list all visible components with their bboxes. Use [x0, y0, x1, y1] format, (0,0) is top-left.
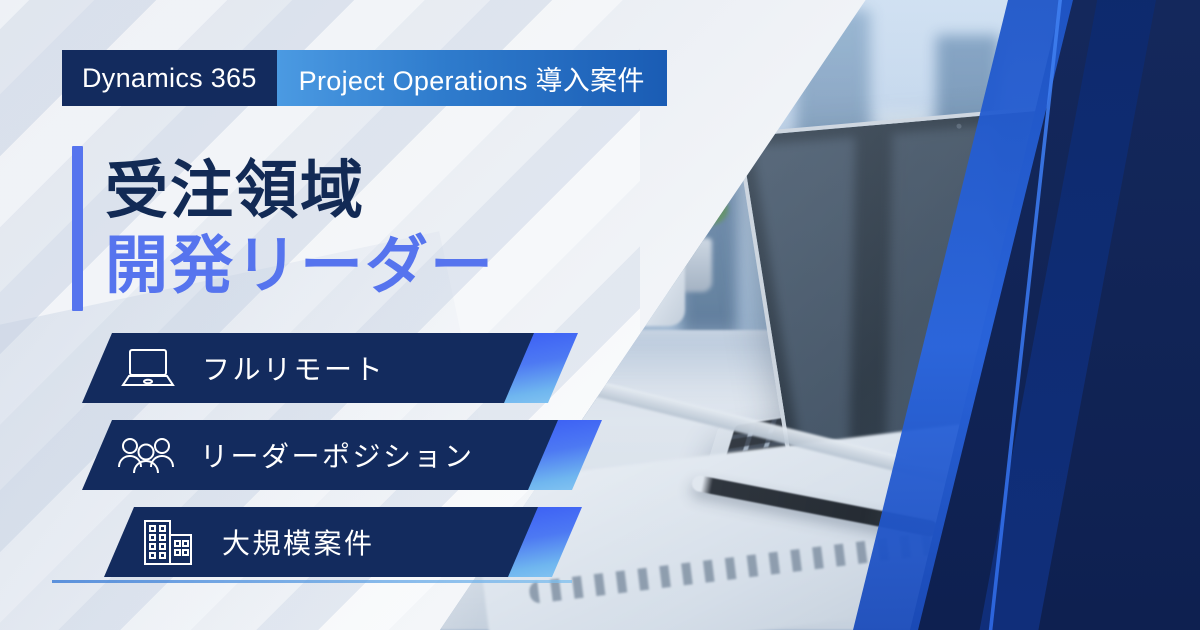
product-badge: Dynamics 365 Project Operations 導入案件	[62, 50, 667, 106]
page-subtitle: 開発リーダー	[105, 229, 495, 303]
feature-tag-label: 大規模案件	[222, 522, 375, 562]
feature-tag-large-project: 大規模案件	[0, 507, 700, 577]
product-badge-name: Dynamics 365	[62, 50, 277, 106]
headline-accent-bar	[72, 146, 83, 311]
feature-tag-content: フルリモート	[118, 333, 385, 403]
laptop-icon	[118, 345, 178, 391]
headline-text: 受注領域 開発リーダー	[105, 146, 495, 311]
feature-tag-leader: リーダーポジション	[0, 420, 700, 490]
headline: 受注領域 開発リーダー	[72, 146, 495, 311]
feature-tag-content: 大規模案件	[138, 507, 375, 577]
recruitment-banner: Dynamics 365 Project Operations 導入案件 受注領…	[0, 0, 1200, 630]
people-group-icon	[116, 432, 176, 478]
feature-tag-label: フルリモート	[202, 348, 385, 388]
feature-tag-content: リーダーポジション	[116, 420, 475, 490]
page-title: 受注領域	[105, 154, 495, 228]
feature-tag-list: フルリモート リーダーポジション	[0, 333, 700, 594]
bottom-accent-line	[52, 580, 572, 583]
feature-tag-remote: フルリモート	[0, 333, 700, 403]
product-badge-subject: Project Operations 導入案件	[277, 50, 667, 106]
buildings-icon	[138, 519, 198, 565]
feature-tag-label: リーダーポジション	[200, 435, 475, 475]
